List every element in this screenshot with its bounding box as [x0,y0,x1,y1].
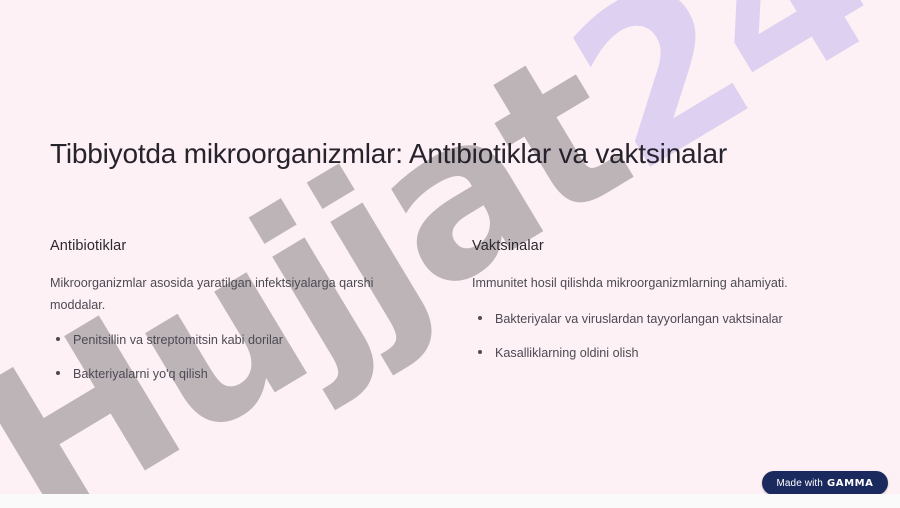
bullet-dot-icon [478,350,482,354]
bullet-dot-icon [56,371,60,375]
column-bullet-list: Penitsillin va streptomitsin kabi dorila… [50,330,428,384]
column-vaktsinalar: Vaktsinalar Immunitet hosil qilishda mik… [472,238,850,399]
list-item: Penitsillin va streptomitsin kabi dorila… [50,330,428,350]
column-bullet-list: Bakteriyalar va viruslardan tayyorlangan… [472,309,850,363]
column-heading: Antibiotiklar [50,238,428,254]
made-with-gamma-badge[interactable]: Made with GAMMA [762,471,888,494]
slide-canvas: Hujjat24 Tibbiyotda mikroorganizmlar: An… [0,0,900,494]
page-title: Tibbiyotda mikroorganizmlar: Antibiotikl… [50,136,750,173]
watermark-text-purple: 24 [533,0,900,219]
column-paragraph: Immunitet hosil qilishda mikroorganizmla… [472,273,850,295]
bottom-strip [0,494,900,508]
list-item: Bakteriyalar va viruslardan tayyorlangan… [472,309,850,329]
list-item-label: Bakteriyalar va viruslardan tayyorlangan… [495,312,783,326]
column-heading: Vaktsinalar [472,238,850,254]
badge-brand-label: GAMMA [827,478,874,489]
list-item: Bakteriyalarni yo'q qilish [50,364,428,384]
column-paragraph: Mikroorganizmlar asosida yaratilgan infe… [50,273,428,316]
list-item-label: Penitsillin va streptomitsin kabi dorila… [73,333,283,347]
column-antibiotiklar: Antibiotiklar Mikroorganizmlar asosida y… [50,238,428,399]
list-item-label: Bakteriyalarni yo'q qilish [73,367,208,381]
bullet-dot-icon [56,337,60,341]
list-item: Kasalliklarning oldini olish [472,343,850,363]
bullet-dot-icon [478,316,482,320]
content-columns: Antibiotiklar Mikroorganizmlar asosida y… [50,238,850,399]
slide-root: Hujjat24 Tibbiyotda mikroorganizmlar: An… [0,0,900,508]
list-item-label: Kasalliklarning oldini olish [495,346,639,360]
badge-prefix-label: Made with [776,478,822,489]
